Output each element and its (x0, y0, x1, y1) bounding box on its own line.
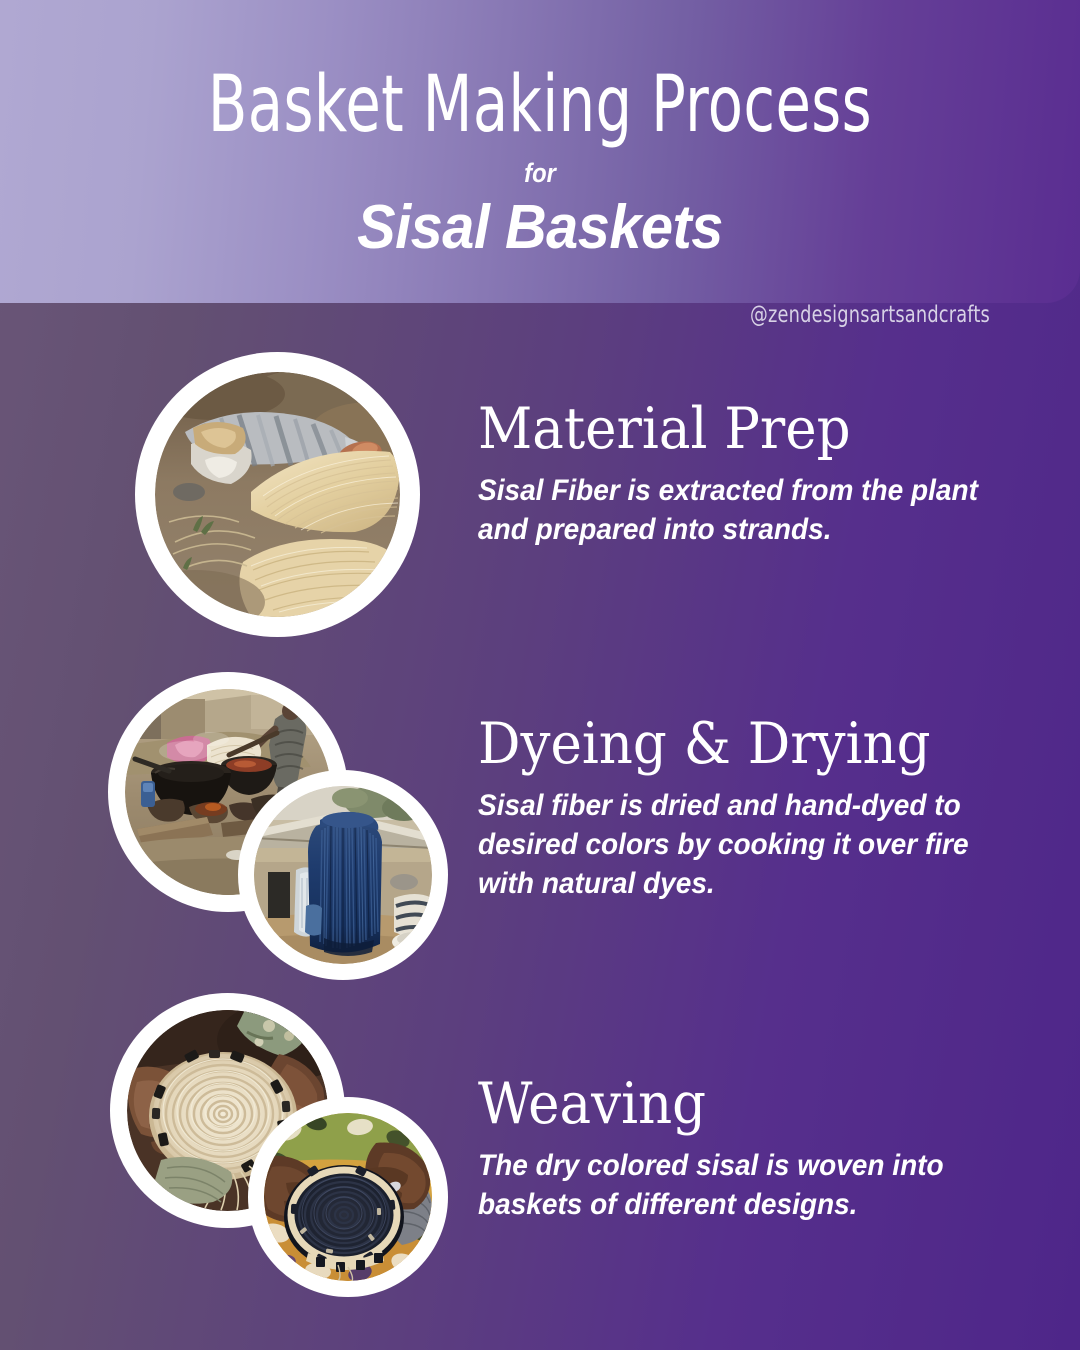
navy-basket-weaving-image (264, 1113, 432, 1281)
blue-dyed-fiber-hanging-image (254, 786, 432, 964)
step-2-title: Dyeing & Drying (478, 715, 962, 775)
page-subtitle: Sisal Baskets (38, 192, 1042, 263)
step-3-text-block: Weaving The dry colored sisal is woven i… (478, 1075, 978, 1225)
step-3-description: The dry colored sisal is woven into bask… (478, 1147, 953, 1225)
social-handle: @zendesignsartsandcrafts (750, 302, 990, 328)
page-title: Basket Making Process (97, 66, 983, 144)
infographic-page: Basket Making Process for Sisal Baskets … (0, 0, 1080, 1350)
header-band: Basket Making Process for Sisal Baskets (0, 0, 1080, 303)
step-1-text-block: Material Prep Sisal Fiber is extracted f… (478, 400, 1018, 550)
step-3-title: Weaving (478, 1075, 943, 1135)
navy-basket-weaving-photo (248, 1097, 448, 1297)
sisal-fiber-drying-photo (135, 352, 420, 637)
blue-dyed-fiber-hanging-photo (238, 770, 448, 980)
step-1-title: Material Prep (478, 400, 980, 460)
step-1-description: Sisal Fiber is extracted from the plant … (478, 472, 991, 550)
title-connector: for (65, 160, 1015, 187)
step-2-description: Sisal fiber is dried and hand-dyed to de… (478, 787, 972, 904)
sisal-fiber-drying-image (155, 372, 400, 617)
step-2-text-block: Dyeing & Drying Sisal fiber is dried and… (478, 715, 998, 904)
